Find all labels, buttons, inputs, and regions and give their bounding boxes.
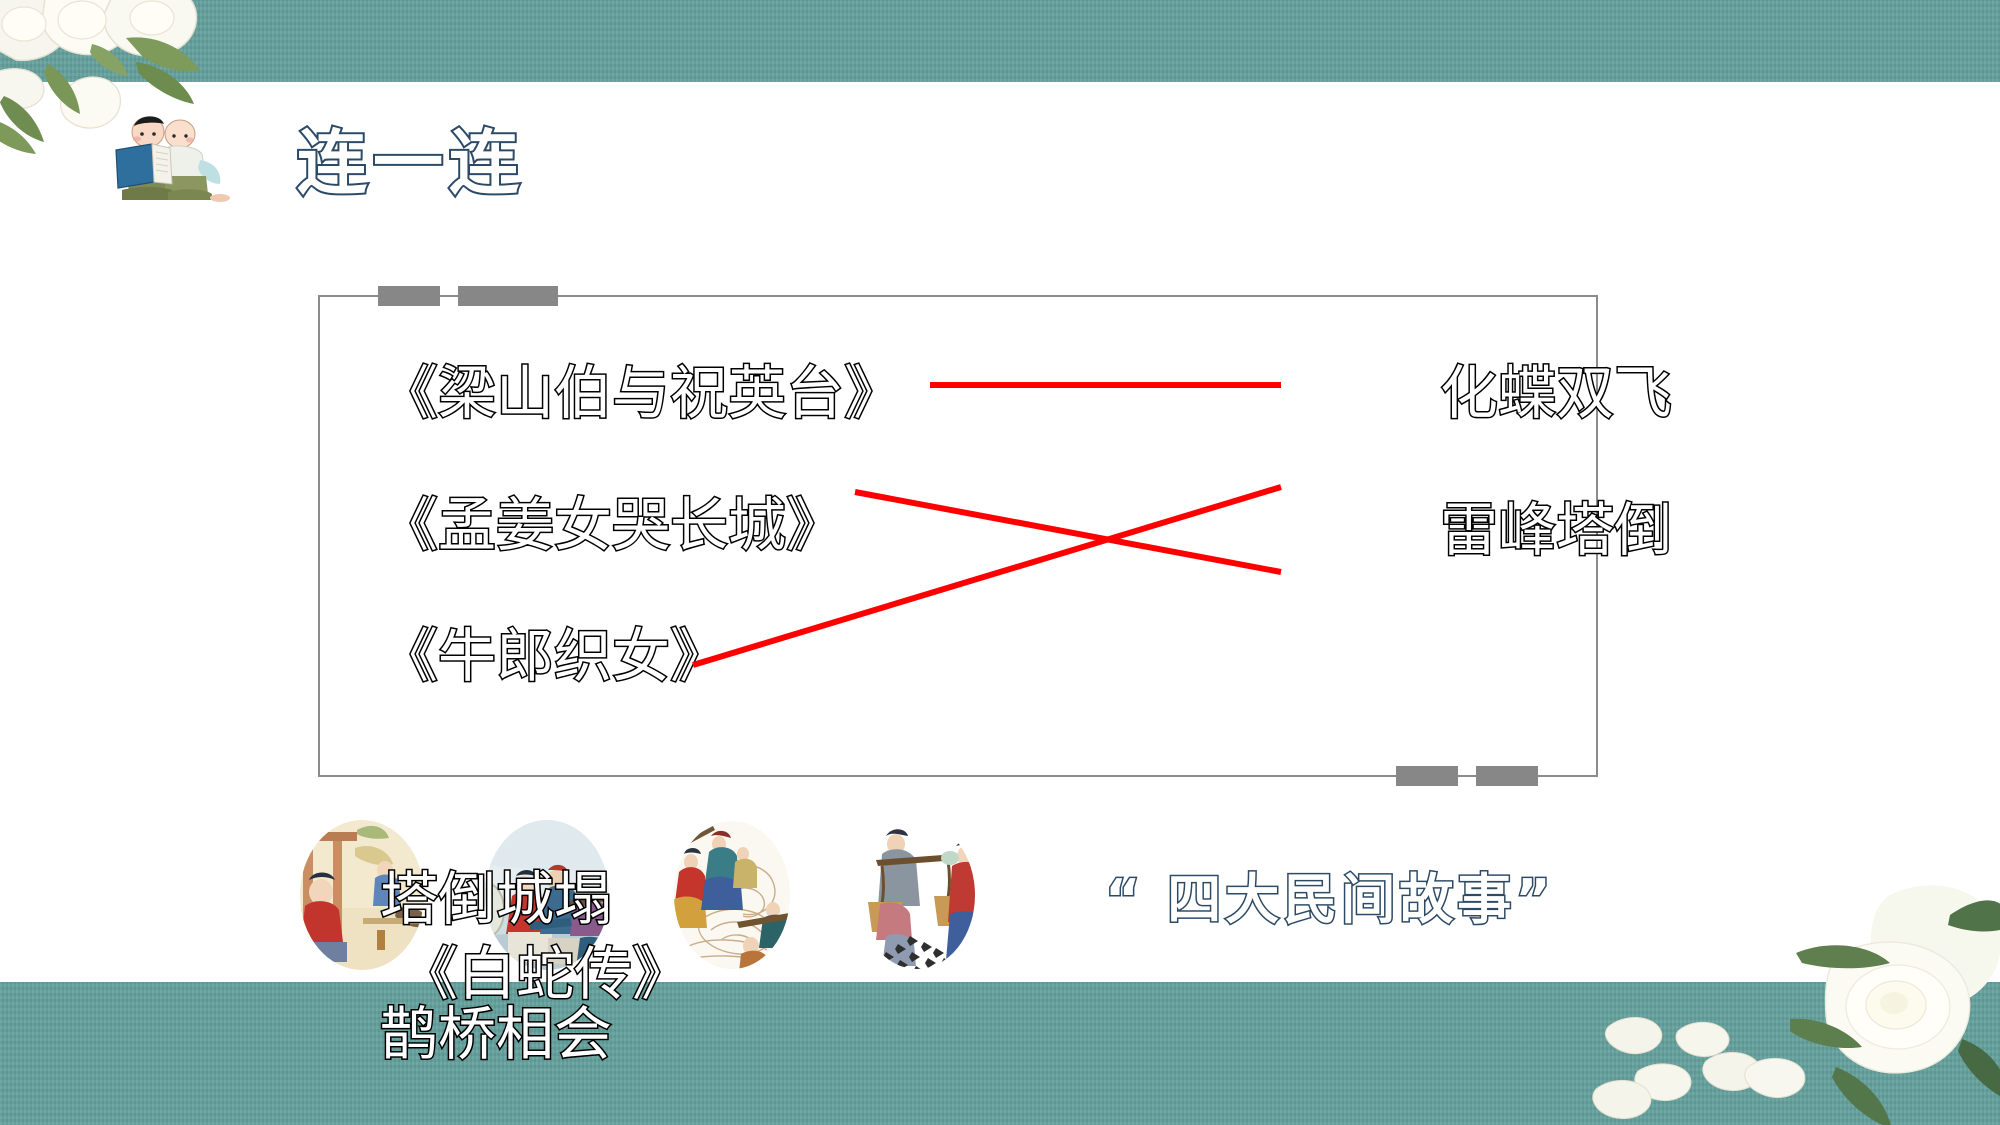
match-right-item-2[interactable]: 雷峰塔倒 (1440, 492, 1740, 569)
bottom-teal-band (0, 982, 2000, 1125)
page-title: 连一连 (297, 128, 525, 198)
match-right-item-1[interactable]: 化蝶双飞 (1440, 355, 1740, 432)
frame-dash-top-2 (458, 286, 558, 306)
frame-dash-bottom-2 (1476, 766, 1538, 786)
match-left-item-1[interactable]: 《梁山伯与祝英台》 (380, 355, 1020, 432)
match-left-column: 《梁山伯与祝英台》 《孟姜女哭长城》 《牛郎织女》 (380, 355, 1020, 750)
slide-canvas: 连一连 《梁山伯与祝英台》 《孟姜女哭长城》 《牛郎织女》 化蝶双飞 雷峰塔倒 … (0, 0, 2000, 1125)
frame-dash-top-1 (378, 286, 440, 306)
match-left-item-3[interactable]: 《牛郎织女》 (380, 618, 1020, 695)
frame-line-left (318, 295, 320, 777)
top-teal-band (0, 0, 2000, 82)
picture-cowherd-magpie (840, 818, 995, 973)
overlap-word-a: 塔倒城塌 (380, 865, 612, 935)
match-right-column: 化蝶双飞 雷峰塔倒 (1440, 355, 1740, 628)
match-left-item-2[interactable]: 《孟姜女哭长城》 (380, 487, 1020, 564)
caption-four-folk-tales: “ 四大民间故事” (1105, 855, 1555, 934)
bottom-overflow-word: 鹊桥相会 (380, 1000, 612, 1070)
kids-reading-illustration-icon (108, 110, 238, 202)
overlap-word-b: 《白蛇传》 (400, 940, 690, 1010)
frame-dash-bottom-1 (1396, 766, 1458, 786)
